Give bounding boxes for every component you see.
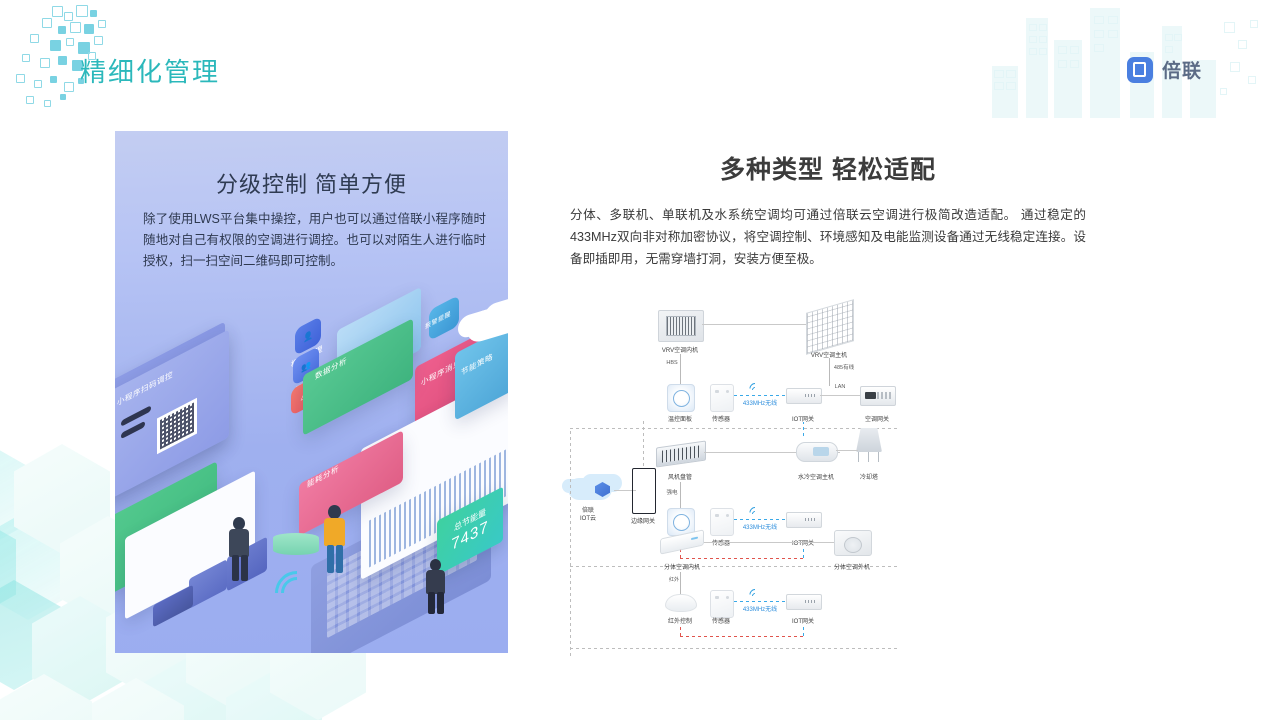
- link-485-wired: [829, 358, 830, 386]
- link-wireless-2: [734, 519, 786, 520]
- right-section-title: 多种类型 轻松适配: [548, 150, 1108, 186]
- device-iot-gateway-1: [786, 388, 822, 404]
- link-red-bus-2: [680, 558, 804, 559]
- network-topology-diagram: VRV空调内机 VRV空调主机 HBS 485有线 温控面板 传感器 433MH…: [548, 300, 948, 650]
- label-cloud-line2: IOT云: [580, 513, 596, 522]
- device-iot-gateway-3: [786, 594, 822, 610]
- isometric-illustration: 小程序扫码调控 👤 权限管理 👥 用户 ⚠ 小程序消息通知: [115, 291, 508, 653]
- wifi-icon-1: [748, 382, 762, 392]
- label-wireless-2: 433MHz无线: [743, 522, 777, 531]
- label-sensor-3: 传感器: [712, 616, 730, 625]
- row-divider-1: [570, 428, 900, 429]
- device-ir-controller: [665, 594, 697, 612]
- edge-bus-vertical: [570, 428, 571, 656]
- label-ac-gateway: 空调网关: [865, 414, 889, 423]
- label-wireless-3: 433MHz无线: [743, 604, 777, 613]
- device-edge-gateway: [632, 468, 656, 514]
- link-wireless-3: [734, 601, 786, 602]
- device-ac-gateway: [860, 386, 896, 406]
- label-split-outdoor: 分体空调外机: [834, 562, 870, 571]
- link-red-bus-3: [680, 636, 804, 637]
- device-iot-cloud: [568, 478, 612, 500]
- link-ir: [680, 572, 681, 594]
- link-up-gateway-1: [803, 422, 804, 436]
- label-hbs: HBS: [666, 360, 677, 366]
- left-card-body: 除了使用LWS平台集中操控，用户也可以通过倍联小程序随时随地对自己有权限的空调进…: [143, 209, 486, 272]
- device-sensor-1: [710, 384, 734, 412]
- wifi-icon-3: [748, 588, 762, 598]
- link-chiller-tower: [836, 450, 858, 451]
- device-vrv-outdoor: [806, 299, 854, 355]
- right-feature-section: 多种类型 轻松适配 分体、多联机、单联机及水系统空调均可通过倍联云空调进行极简改…: [548, 150, 1108, 270]
- device-cooling-tower: [856, 428, 882, 452]
- page-header: 精细化管理 倍联: [0, 0, 1280, 118]
- left-card-title: 分级控制 简单方便: [115, 167, 508, 199]
- label-wireless-1: 433MHz无线: [743, 398, 777, 407]
- link-wireless-1: [734, 395, 786, 396]
- diagram-bottom-edge: [570, 648, 900, 649]
- link-up-gateway-3: [803, 624, 804, 636]
- right-section-body: 分体、多联机、单联机及水系统空调均可通过倍联云空调进行极简改造适配。 通过稳定的…: [570, 204, 1086, 270]
- page-title: 精细化管理: [80, 52, 220, 89]
- link-red-drop-3: [680, 626, 681, 636]
- label-lan: LAN: [835, 384, 846, 390]
- square-logo-icon: [1127, 57, 1153, 83]
- label-strong-power: 强电: [666, 488, 677, 496]
- label-ir: 红外: [669, 576, 679, 583]
- link-lan-1: [820, 395, 860, 396]
- device-water-cooled-chiller: [796, 442, 838, 462]
- wifi-icon-2: [748, 506, 762, 516]
- device-sensor-2: [710, 508, 734, 536]
- link-vrv-indoor-outdoor: [702, 324, 806, 325]
- label-fan-coil: 风机盘管: [668, 472, 692, 481]
- illus-chat-bubble-base: [273, 533, 319, 555]
- label-sensor-1: 传感器: [712, 414, 730, 423]
- link-split-in-out: [704, 542, 834, 543]
- device-split-outdoor: [834, 530, 872, 556]
- device-vrv-indoor: [658, 310, 704, 342]
- label-panel-1: 温控面板: [668, 414, 692, 423]
- device-iot-gateway-2: [786, 512, 822, 528]
- brand-name: 倍联: [1162, 56, 1202, 83]
- edge-bus-vertical-2: [643, 420, 644, 466]
- cooling-tower-legs: [856, 452, 882, 462]
- device-thermostat-panel-1: [667, 384, 695, 412]
- label-edge-gateway: 边缘网关: [631, 516, 655, 525]
- link-vrv-hbs: [680, 354, 681, 384]
- link-strong-power: [680, 482, 681, 508]
- device-sensor-3: [710, 590, 734, 618]
- label-water-chiller: 水冷空调主机: [798, 472, 834, 481]
- label-ir-controller: 红外控制: [668, 616, 692, 625]
- label-split-indoor: 分体空调内机: [664, 562, 700, 571]
- label-vrv-indoor: VRV空调内机: [662, 345, 698, 354]
- link-up-gateway-2: [803, 546, 804, 558]
- device-fan-coil: [656, 440, 706, 467]
- left-feature-card: 分级控制 简单方便 除了使用LWS平台集中操控，用户也可以通过倍联小程序随时随地…: [115, 131, 508, 653]
- label-cooling-tower: 冷却塔: [860, 472, 878, 481]
- brand-logo: 倍联: [1127, 56, 1202, 83]
- label-485-wired: 485有线: [834, 363, 854, 371]
